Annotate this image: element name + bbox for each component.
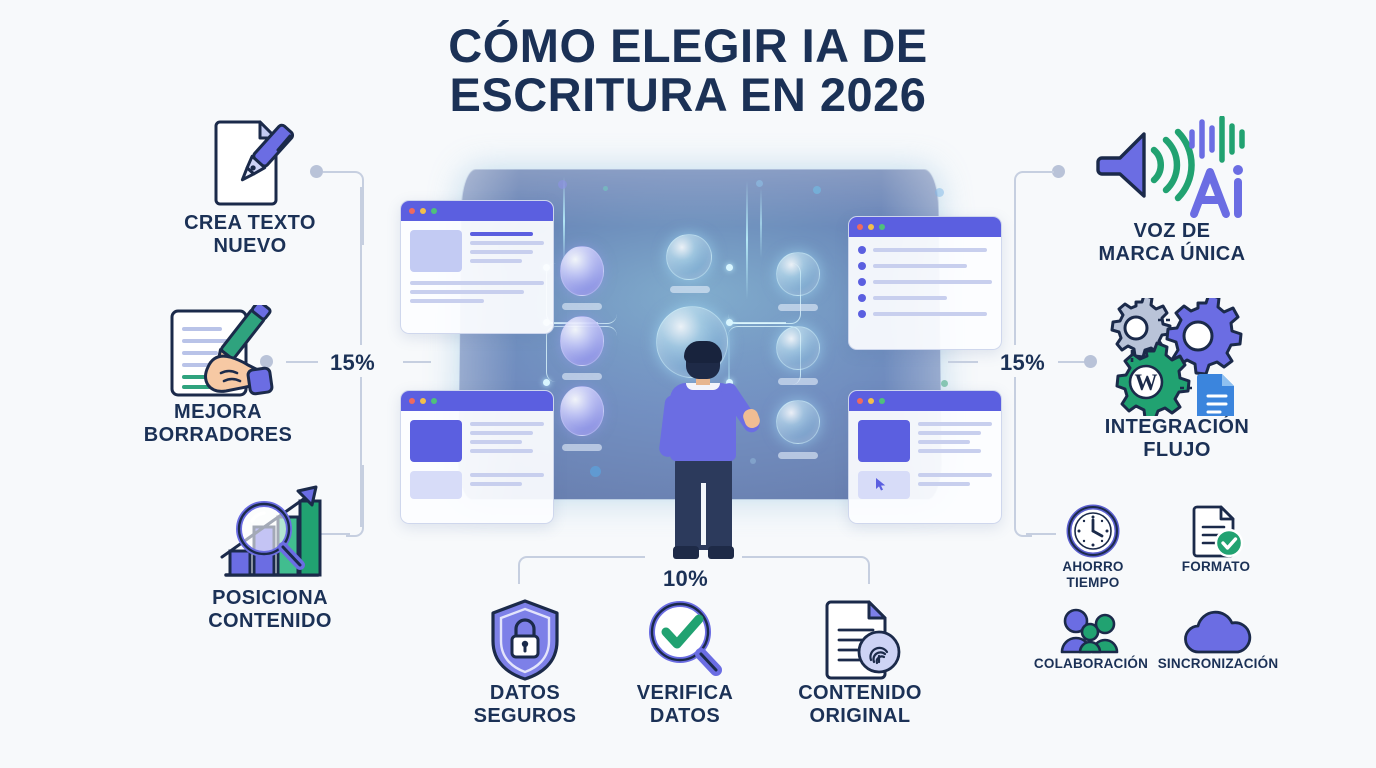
page-title: CÓMO ELEGIR IA DE ESCRITURA EN 2026 [0, 22, 1376, 120]
item-label: CONTENIDO ORIGINAL [780, 682, 940, 728]
browser-title-bar [401, 391, 553, 411]
connector-line [948, 361, 978, 363]
text-line [470, 440, 522, 444]
list-bullet-icon [858, 278, 866, 286]
item-label: AHORRO TIEMPO [1040, 559, 1146, 590]
bottom-percentage: 10% [663, 566, 708, 592]
browser-card[interactable] [400, 390, 554, 524]
close-dot-icon [857, 398, 863, 404]
svg-text:W: W [1135, 370, 1158, 395]
data-sphere [776, 326, 820, 370]
item-voz-de-marca-unica[interactable]: VOZ DE MARCA ÚNICA [1072, 116, 1272, 266]
item-label: COLABORACIÓN [1026, 656, 1156, 672]
connector-line [360, 187, 362, 345]
link-node [726, 264, 733, 271]
data-sphere [560, 246, 604, 296]
cursor-thumbnail [858, 471, 910, 499]
item-datos-seguros[interactable]: DATOS SEGUROS [452, 598, 598, 728]
person-hair [684, 341, 722, 363]
maximize-dot-icon [879, 398, 885, 404]
text-line [470, 482, 522, 486]
text-line [873, 296, 947, 300]
ambient-speck [941, 380, 948, 387]
ambient-speck [603, 186, 608, 191]
connector-bracket [518, 556, 534, 584]
speaker-waveform-ai-icon [1092, 116, 1252, 220]
data-sphere [560, 386, 604, 436]
ambient-speck [558, 180, 567, 189]
text-line [470, 250, 533, 254]
content-thumbnail [410, 471, 462, 499]
item-crea-texto-nuevo[interactable]: CREA TEXTO NUEVO [160, 112, 340, 258]
glow-streak [760, 188, 762, 258]
sphere-caption-bar [562, 444, 602, 451]
text-line [410, 290, 524, 294]
connector-bracket [1014, 171, 1032, 245]
clock-icon [1065, 503, 1121, 559]
maximize-dot-icon [431, 398, 437, 404]
item-mejora-borradores[interactable]: MEJORA BORRADORES [118, 305, 318, 447]
content-thumbnail [858, 420, 910, 462]
data-sphere [776, 400, 820, 444]
connector-line [742, 556, 856, 558]
item-label: POSICIONA CONTENIDO [175, 587, 365, 633]
shield-lock-icon [487, 598, 563, 682]
link-node [726, 319, 733, 326]
title-line-1: CÓMO ELEGIR IA DE [448, 19, 927, 72]
browser-card[interactable] [400, 200, 554, 334]
connector-line [403, 361, 431, 363]
data-sphere [560, 316, 604, 366]
minimize-dot-icon [868, 398, 874, 404]
sphere-caption-bar [778, 304, 818, 311]
text-line [470, 422, 544, 426]
sphere-caption-bar [562, 303, 602, 310]
list-bullet-icon [858, 310, 866, 318]
sphere-caption-bar [670, 286, 710, 293]
item-label: FORMATO [1163, 559, 1269, 575]
item-label: INTEGRACIÓN FLUJO [1082, 416, 1272, 462]
magnifier-check-icon [644, 598, 726, 682]
item-label: MEJORA BORRADORES [118, 401, 318, 447]
minimize-dot-icon [420, 398, 426, 404]
right-percentage: 15% [1000, 350, 1045, 376]
item-label: DATOS SEGUROS [452, 682, 598, 728]
ambient-speck [590, 466, 601, 477]
item-formato[interactable]: FORMATO [1163, 503, 1269, 575]
browser-title-bar [401, 201, 553, 221]
item-contenido-original[interactable]: CONTENIDO ORIGINAL [780, 598, 940, 728]
gears-integration-icon: W [1102, 298, 1252, 416]
item-colaboracion[interactable]: COLABORACIÓN [1026, 608, 1156, 672]
document-check-icon [1188, 503, 1244, 559]
glow-streak [563, 176, 565, 266]
left-percentage: 15% [330, 350, 375, 376]
people-group-icon [1060, 608, 1122, 656]
infographic-canvas: CÓMO ELEGIR IA DE ESCRITURA EN 2026 [0, 0, 1376, 768]
data-sphere [776, 252, 820, 296]
text-line [470, 449, 533, 453]
hand-pencil-document-icon [158, 305, 278, 401]
sphere-caption-bar [562, 373, 602, 380]
item-verifica-datos[interactable]: VERIFICA DATOS [615, 598, 755, 728]
sphere-caption-bar [778, 452, 818, 459]
person-figure [656, 343, 751, 562]
document-pen-icon [198, 112, 302, 212]
item-label: CREA TEXTO NUEVO [160, 212, 340, 258]
connector-line [530, 556, 645, 558]
ambient-speck [756, 180, 763, 187]
text-line [470, 241, 544, 245]
text-line [918, 482, 970, 486]
item-integracion-flujo[interactable]: W INTEGRACIÓN FLUJO [1082, 298, 1272, 462]
text-line [873, 264, 967, 268]
text-line [470, 473, 544, 477]
minimize-dot-icon [420, 208, 426, 214]
list-bullet-icon [858, 246, 866, 254]
connector-wire [728, 322, 786, 324]
document-fingerprint-icon [817, 598, 903, 682]
content-thumbnail [410, 420, 462, 462]
hero-illustration [398, 158, 1002, 562]
text-line [470, 259, 522, 263]
text-line [918, 440, 970, 444]
cloud-icon [1183, 608, 1253, 656]
connector-bracket [854, 556, 870, 584]
data-sphere [666, 234, 712, 280]
cursor-icon [876, 478, 887, 491]
close-dot-icon [857, 224, 863, 230]
item-ahorro-tiempo[interactable]: AHORRO TIEMPO [1040, 503, 1146, 590]
sphere-caption-bar [778, 378, 818, 385]
list-bullet-icon [858, 294, 866, 302]
bar-chart-magnifier-icon [208, 483, 332, 587]
ambient-speck [813, 186, 821, 194]
item-label: VOZ DE MARCA ÚNICA [1072, 220, 1272, 266]
item-label: SINCRONIZACIÓN [1148, 656, 1288, 672]
text-line [410, 299, 484, 303]
maximize-dot-icon [431, 208, 437, 214]
text-line [410, 281, 544, 285]
leg-gap [701, 483, 706, 545]
ambient-speck [935, 188, 944, 197]
connector-line [1014, 187, 1016, 345]
maximize-dot-icon [879, 224, 885, 230]
connector-bracket [1014, 465, 1032, 537]
text-line [470, 431, 533, 435]
minimize-dot-icon [868, 224, 874, 230]
link-node [543, 379, 550, 386]
text-line [470, 232, 533, 236]
item-posiciona-contenido[interactable]: POSICIONA CONTENIDO [175, 483, 365, 633]
list-bullet-icon [858, 262, 866, 270]
item-label: VERIFICA DATOS [615, 682, 755, 728]
item-sincronizacion[interactable]: SINCRONIZACIÓN [1148, 608, 1288, 672]
content-thumbnail [410, 230, 462, 272]
